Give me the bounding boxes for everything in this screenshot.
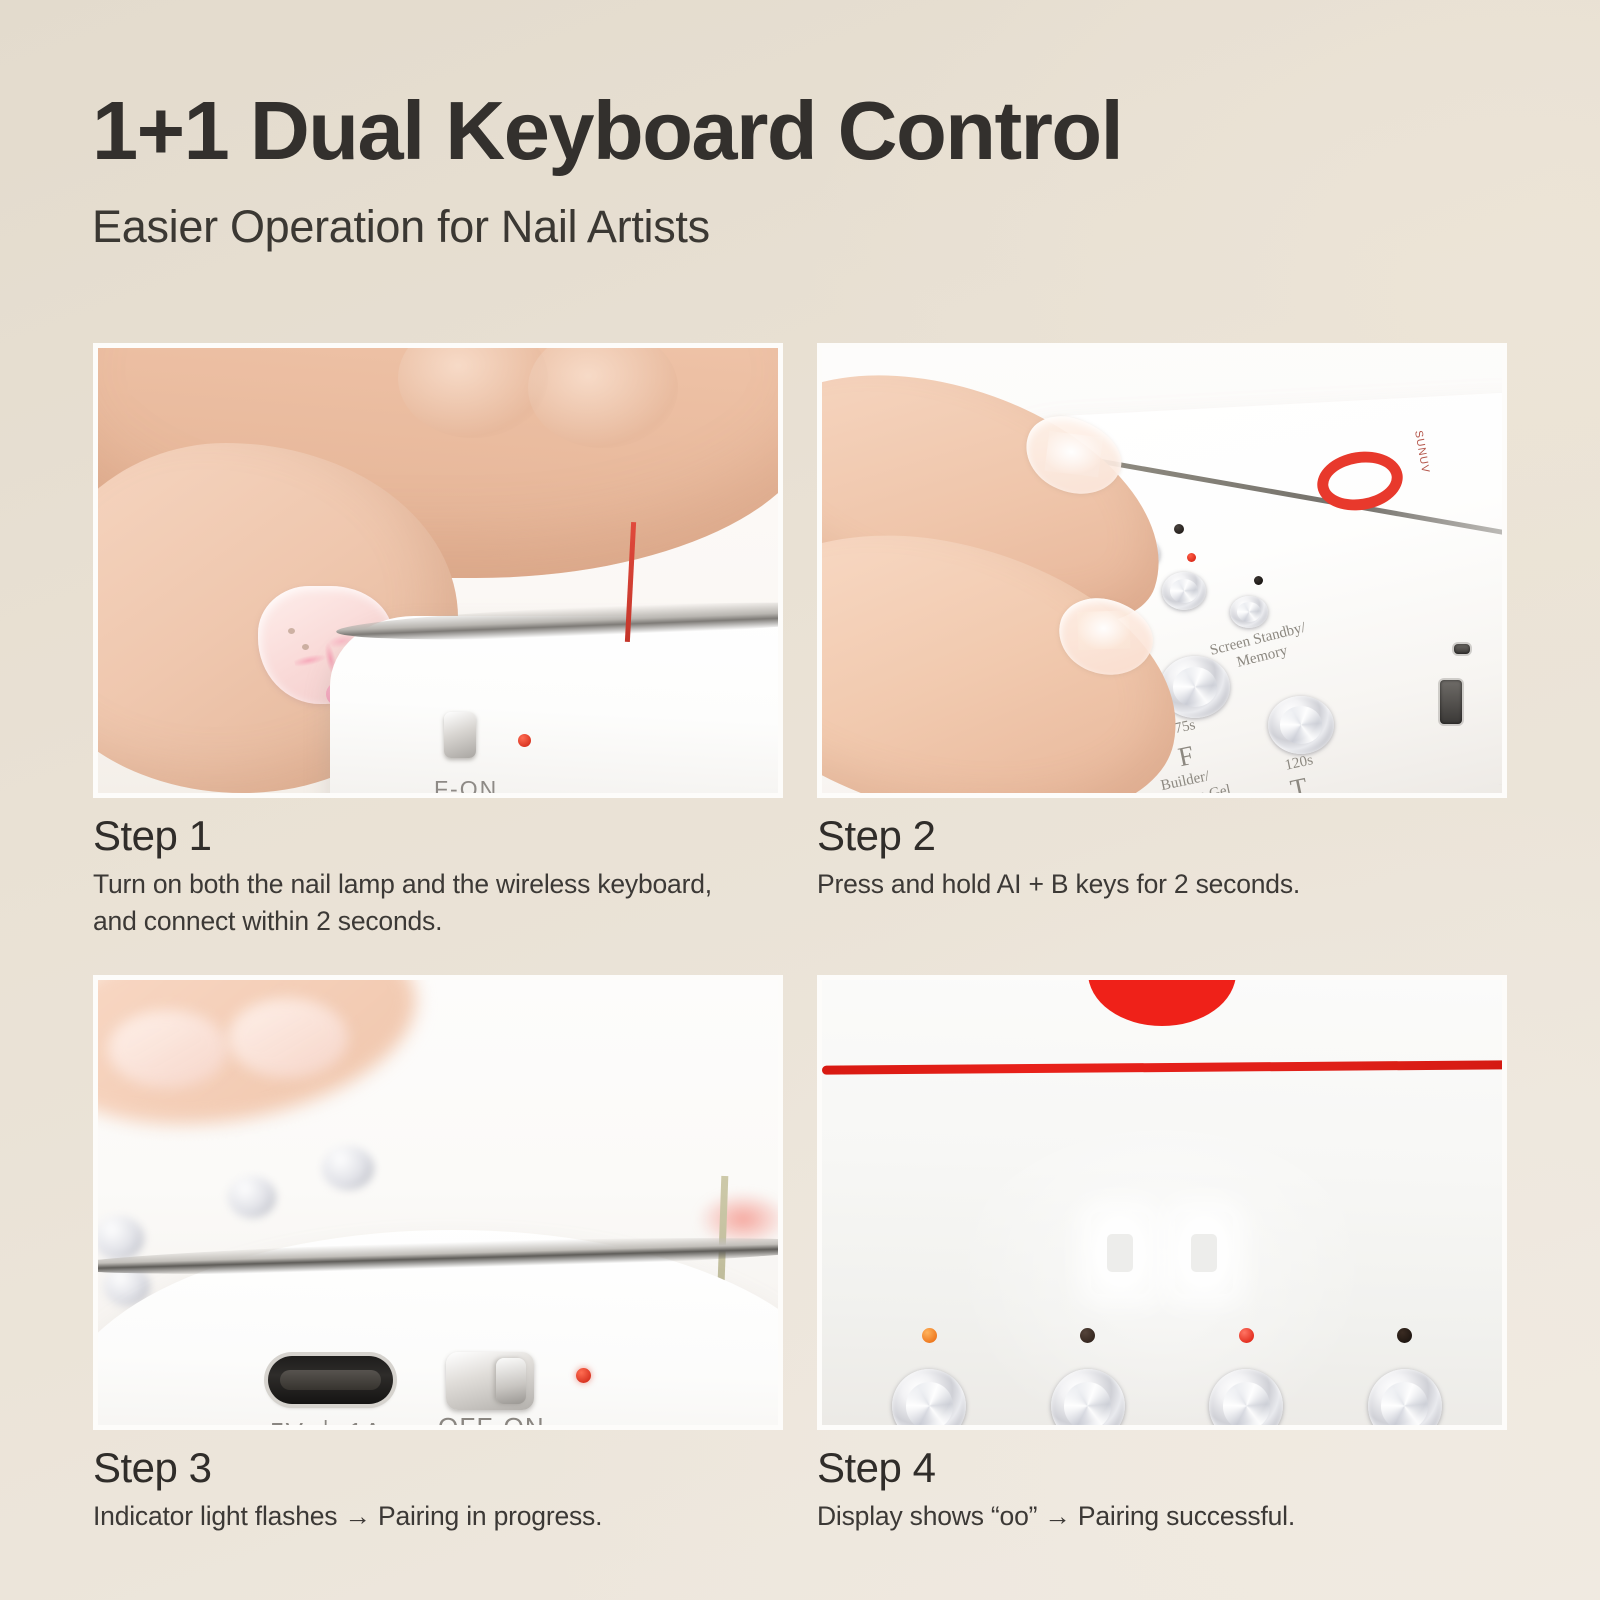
indicator-dot-2 [1080, 1328, 1095, 1343]
page-title: 1+1 Dual Keyboard Control [92, 88, 1512, 174]
step-card-4: Step 4 Display shows “oo” → Pairing succ… [817, 975, 1507, 1535]
button-gem-4[interactable] [1368, 1369, 1442, 1425]
red-accent-line [822, 1060, 1502, 1074]
step-2-caption: Step 2 Press and hold AI + B keys for 2 … [817, 798, 1507, 903]
button-gem-3[interactable] [1209, 1369, 1283, 1425]
display-digit-left [1091, 1212, 1149, 1294]
step-4-caption: Step 4 Display shows “oo” → Pairing succ… [817, 1430, 1507, 1535]
indicator-dot-1 [922, 1328, 937, 1343]
step-2-photo: SUNUV Wi- 30s 🔈 Screen Standby/ Memory G… [817, 343, 1507, 798]
step-card-1: F-ON Step 1 Turn on both the nail lamp a… [93, 343, 783, 939]
page-subtitle: Easier Operation for Nail Artists [92, 202, 1512, 252]
step-card-3: 5V ⏚ 1A OFF-ON Step 3 Indicator light fl… [93, 975, 783, 1535]
switch-label: F-ON [434, 776, 498, 793]
nail-shine [1077, 610, 1130, 650]
step-3-description: Indicator light flashes → Pairing in pro… [93, 1498, 783, 1535]
step-3-caption: Step 3 Indicator light flashes → Pairing… [93, 1430, 783, 1535]
button-gem-sound[interactable] [1162, 572, 1206, 610]
button-gem-1[interactable] [892, 1369, 966, 1425]
red-accent-cap [1088, 980, 1236, 1026]
side-port-usb [1440, 680, 1462, 724]
button-gem-top-coat[interactable] [1268, 696, 1334, 754]
standby-led-dot [1254, 576, 1263, 585]
step-2-title: Step 2 [817, 812, 1507, 859]
blurred-gem-button [322, 1146, 374, 1190]
nail-speck [302, 644, 309, 650]
lamp-button-1[interactable] [889, 1328, 969, 1425]
step-4-description: Display shows “oo” → Pairing successful. [817, 1498, 1507, 1535]
nail-speck [288, 628, 295, 634]
switch-label: OFF-ON [438, 1412, 545, 1425]
blurred-gem-button [228, 1176, 276, 1218]
sound-led-dot [1187, 553, 1196, 562]
step-3-title: Step 3 [93, 1444, 783, 1491]
indicator-dot-4 [1397, 1328, 1412, 1343]
step-4-photo [817, 975, 1507, 1430]
step-2-description: Press and hold AI + B keys for 2 seconds… [817, 866, 1507, 903]
lamp-button-3[interactable] [1206, 1328, 1286, 1425]
power-rating-label: 5V ⏚ 1A [270, 1412, 382, 1425]
step-4-title: Step 4 [817, 1444, 1507, 1491]
blurred-nail [108, 1010, 228, 1088]
wireless-keyboard-body [330, 616, 778, 793]
button-row [822, 1328, 1502, 1425]
page-header: 1+1 Dual Keyboard Control Easier Operati… [92, 88, 1512, 252]
led-display [1091, 1212, 1233, 1294]
blurred-gem-button [98, 1216, 144, 1260]
steps-grid: F-ON Step 1 Turn on both the nail lamp a… [93, 343, 1507, 1535]
nail-shine [1045, 431, 1103, 477]
lamp-button-4[interactable] [1365, 1328, 1445, 1425]
step-1-photo: F-ON [93, 343, 783, 798]
side-port-small [1454, 644, 1470, 654]
lamp-button-2[interactable] [1048, 1328, 1128, 1425]
red-led-indicator [518, 734, 531, 747]
button-gem-screen-standby[interactable] [1230, 596, 1268, 628]
blurred-nail [228, 998, 348, 1078]
step-1-title: Step 1 [93, 812, 783, 859]
step-1-caption: Step 1 Turn on both the nail lamp and th… [93, 798, 783, 939]
power-switch[interactable] [444, 712, 476, 758]
wifi-led-dot [1174, 524, 1184, 534]
display-digit-right [1175, 1212, 1233, 1294]
step-1-description: Turn on both the nail lamp and the wirel… [93, 866, 783, 939]
button-gem-2[interactable] [1051, 1369, 1125, 1425]
step-card-2: SUNUV Wi- 30s 🔈 Screen Standby/ Memory G… [817, 343, 1507, 939]
off-on-toggle-switch[interactable] [446, 1352, 534, 1410]
indicator-dot-3 [1239, 1328, 1254, 1343]
step-3-photo: 5V ⏚ 1A OFF-ON [93, 975, 783, 1430]
usb-c-port [268, 1356, 393, 1404]
